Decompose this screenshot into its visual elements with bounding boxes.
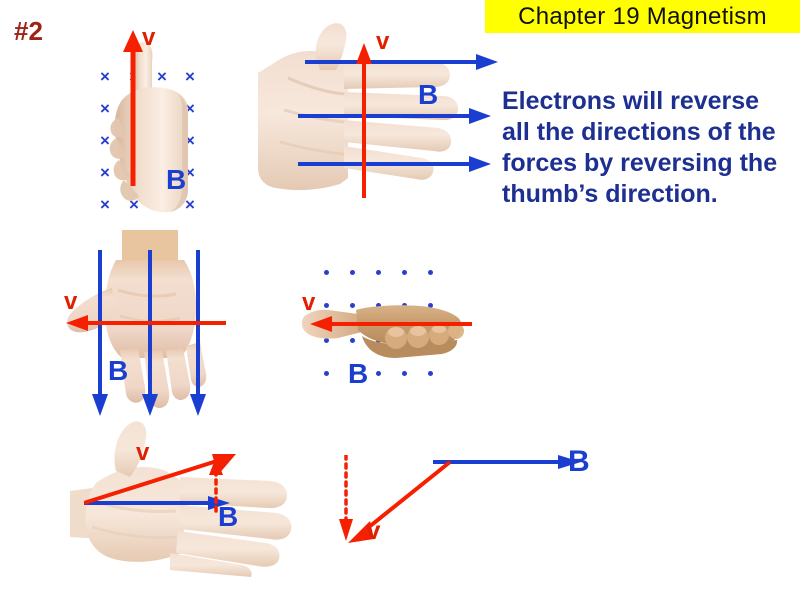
field-label-b: B [348,360,368,388]
figure-flat-hand-b-right: v B [258,18,478,213]
field-label-b: B [218,503,238,531]
velocity-arrow-diagonal [340,457,455,552]
field-label-b: B [418,81,438,109]
figure-vector-only-angled: v B [330,445,600,555]
velocity-label-v: v [366,517,380,543]
hand-illustration-thumb-up [92,22,212,222]
velocity-label-v: v [64,290,77,314]
page-title: Chapter 19 Magnetism [518,3,767,31]
field-arrow-right [433,454,583,470]
velocity-label-v: v [142,26,155,50]
figure-hand-angled-vectors: v B [70,415,300,570]
velocity-arrow-left [64,315,228,331]
slide-canvas: #2 Chapter 19 Magnetism Electrons will r… [0,0,800,600]
field-arrow-right [298,108,493,124]
figure-thumb-up-into-page: × × × × × × × × × × × × × × × × × × × × [92,22,212,222]
field-label-b: B [166,166,186,194]
velocity-arrow-up [118,28,148,188]
figure-hand-down-b-down: v B [50,230,250,405]
velocity-label-v: v [136,441,149,465]
velocity-label-v: v [376,30,389,54]
figure-hand-left-out-of-page: v B [300,258,480,388]
field-arrow-right [305,54,500,70]
field-label-b: B [108,357,128,385]
slide-number-label: #2 [14,16,43,47]
velocity-label-v: v [302,291,315,315]
title-banner: Chapter 19 Magnetism [485,0,800,33]
velocity-arrow-left [308,316,474,332]
field-arrow-down [92,250,108,418]
field-arrow-down [190,250,206,418]
body-paragraph: Electrons will reverse all the direction… [502,86,792,210]
velocity-arrow-up [352,40,376,200]
field-arrow-right [298,156,493,172]
field-arrow-down [142,250,158,418]
velocity-component-dotted [338,455,354,545]
field-label-b: B [568,447,590,477]
